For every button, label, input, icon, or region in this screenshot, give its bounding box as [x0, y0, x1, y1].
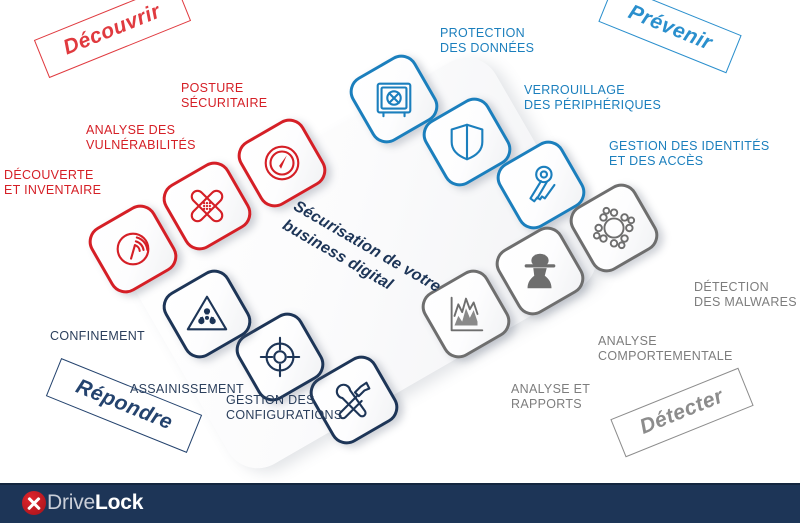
brand-name-part1: Drive — [47, 491, 95, 515]
label-discovery-inventory: DÉCOUVERTE ET INVENTAIRE — [4, 168, 101, 198]
drivelock-logo: Drive Lock — [22, 491, 143, 515]
label-config-management: GESTION DES CONFIGURATIONS — [226, 393, 342, 423]
label-device-lockdown: VERROUILLAGE DES PÉRIPHÉRIQUES — [524, 83, 661, 113]
stamp-prevent: Prévenir — [598, 0, 741, 73]
target-icon — [249, 326, 312, 389]
label-vulnerability-scan: ANALYSE DES VULNÉRABILITÉS — [86, 123, 196, 153]
label-behavioural-analysis: ANALYSE COMPORTEMENTALE — [598, 334, 733, 364]
footer-bar: Drive Lock — [0, 483, 800, 523]
biohazard-icon — [176, 283, 239, 346]
label-containment: CONFINEMENT — [50, 329, 145, 344]
footer-divider — [0, 483, 800, 485]
drivelock-x-icon — [22, 491, 46, 515]
label-analysis-reports: ANALYSE ET RAPPORTS — [511, 382, 590, 412]
infographic-canvas: DÉCOUVERTE ET INVENTAIRE ANALYSE DES VUL… — [0, 0, 800, 523]
label-malware-detection: DÉTECTION DES MALWARES — [694, 280, 797, 310]
signal-scan-icon — [102, 218, 165, 281]
label-security-posture: POSTURE SÉCURITAIRE — [181, 81, 267, 111]
bandage-cross-icon — [176, 175, 239, 238]
brand-name-part2: Lock — [95, 491, 143, 515]
gauge-icon — [251, 132, 314, 195]
keys-icon — [510, 154, 573, 217]
spy-icon — [509, 240, 572, 303]
virus-icon — [583, 197, 646, 260]
label-identity-access: GESTION DES IDENTITÉS ET DES ACCÈS — [609, 139, 770, 169]
stamp-respond: Répondre — [46, 358, 202, 453]
stamp-discover: Découvrir — [34, 0, 191, 78]
stamp-detect: Détecter — [610, 368, 753, 458]
safe-vault-icon — [363, 68, 426, 131]
label-data-protection: PROTECTION DES DONNÉES — [440, 26, 534, 56]
shield-icon — [436, 111, 499, 174]
